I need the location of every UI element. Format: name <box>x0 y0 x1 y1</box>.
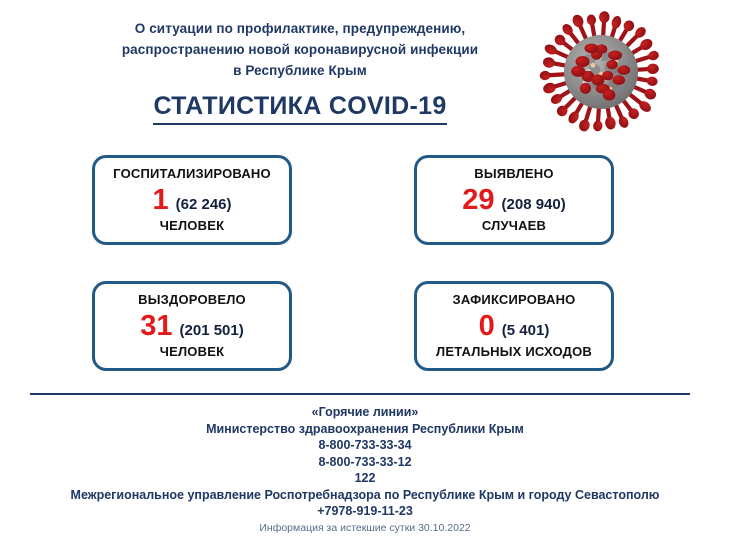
stat-value: 1 <box>152 185 168 215</box>
stat-label: ВЫЯВЛЕНО <box>474 166 553 182</box>
footer-hotlines-title: «Горячие линии» <box>0 404 730 421</box>
stat-unit: СЛУЧАЕВ <box>482 218 546 234</box>
stat-total: (201 501) <box>180 321 244 341</box>
footer-phone-1: 8-800-733-33-34 <box>0 437 730 454</box>
footer-phone-2: 8-800-733-33-12 <box>0 454 730 471</box>
stat-total: (62 246) <box>176 195 232 215</box>
header-line-2: распространению новой коронавирусной инф… <box>0 39 600 60</box>
stat-total: (5 401) <box>502 321 550 341</box>
stat-number-row: 1 (62 246) <box>152 185 231 215</box>
stat-card-recovered: ВЫЗДОРОВЕЛО 31 (201 501) ЧЕЛОВЕК <box>92 281 292 371</box>
stat-label: ГОСПИТАЛИЗИРОВАНО <box>113 166 271 182</box>
stat-number-row: 29 (208 940) <box>462 185 565 215</box>
footer-block: «Горячие линии» Министерство здравоохран… <box>0 404 730 536</box>
coronavirus-icon <box>536 8 666 136</box>
stat-number-row: 31 (201 501) <box>140 311 243 341</box>
stat-unit: ЧЕЛОВЕК <box>160 344 224 360</box>
stat-label: ВЫЗДОРОВЕЛО <box>138 292 246 308</box>
footer-update-note: Информация за истекшие сутки 30.10.2022 <box>0 521 730 536</box>
header-block: О ситуации по профилактике, предупрежден… <box>0 18 600 81</box>
footer-phone-4: +7978-919-11-23 <box>0 503 730 520</box>
footer-rospotrebnadzor: Межрегиональное управление Роспотребнадз… <box>0 487 730 504</box>
stat-value: 0 <box>479 311 495 341</box>
section-divider <box>30 393 690 395</box>
footer-ministry: Министерство здравоохранения Республики … <box>0 421 730 438</box>
stat-card-detected: ВЫЯВЛЕНО 29 (208 940) СЛУЧАЕВ <box>414 155 614 245</box>
stat-label: ЗАФИКСИРОВАНО <box>453 292 576 308</box>
stat-unit: ЧЕЛОВЕК <box>160 218 224 234</box>
stat-unit: ЛЕТАЛЬНЫХ ИСХОДОВ <box>436 344 592 360</box>
header-line-3: в Республике Крым <box>0 60 600 81</box>
header-line-1: О ситуации по профилактике, предупрежден… <box>0 18 600 39</box>
page-title-text: СТАТИСТИКА COVID-19 <box>153 92 446 125</box>
stat-card-deaths: ЗАФИКСИРОВАНО 0 (5 401) ЛЕТАЛЬНЫХ ИСХОДО… <box>414 281 614 371</box>
footer-phone-3: 122 <box>0 470 730 487</box>
stat-number-row: 0 (5 401) <box>479 311 550 341</box>
stat-card-hospitalized: ГОСПИТАЛИЗИРОВАНО 1 (62 246) ЧЕЛОВЕК <box>92 155 292 245</box>
stat-total: (208 940) <box>502 195 566 215</box>
stat-value: 29 <box>462 185 494 215</box>
stat-value: 31 <box>140 311 172 341</box>
page-title: СТАТИСТИКА COVID-19 <box>0 92 600 125</box>
